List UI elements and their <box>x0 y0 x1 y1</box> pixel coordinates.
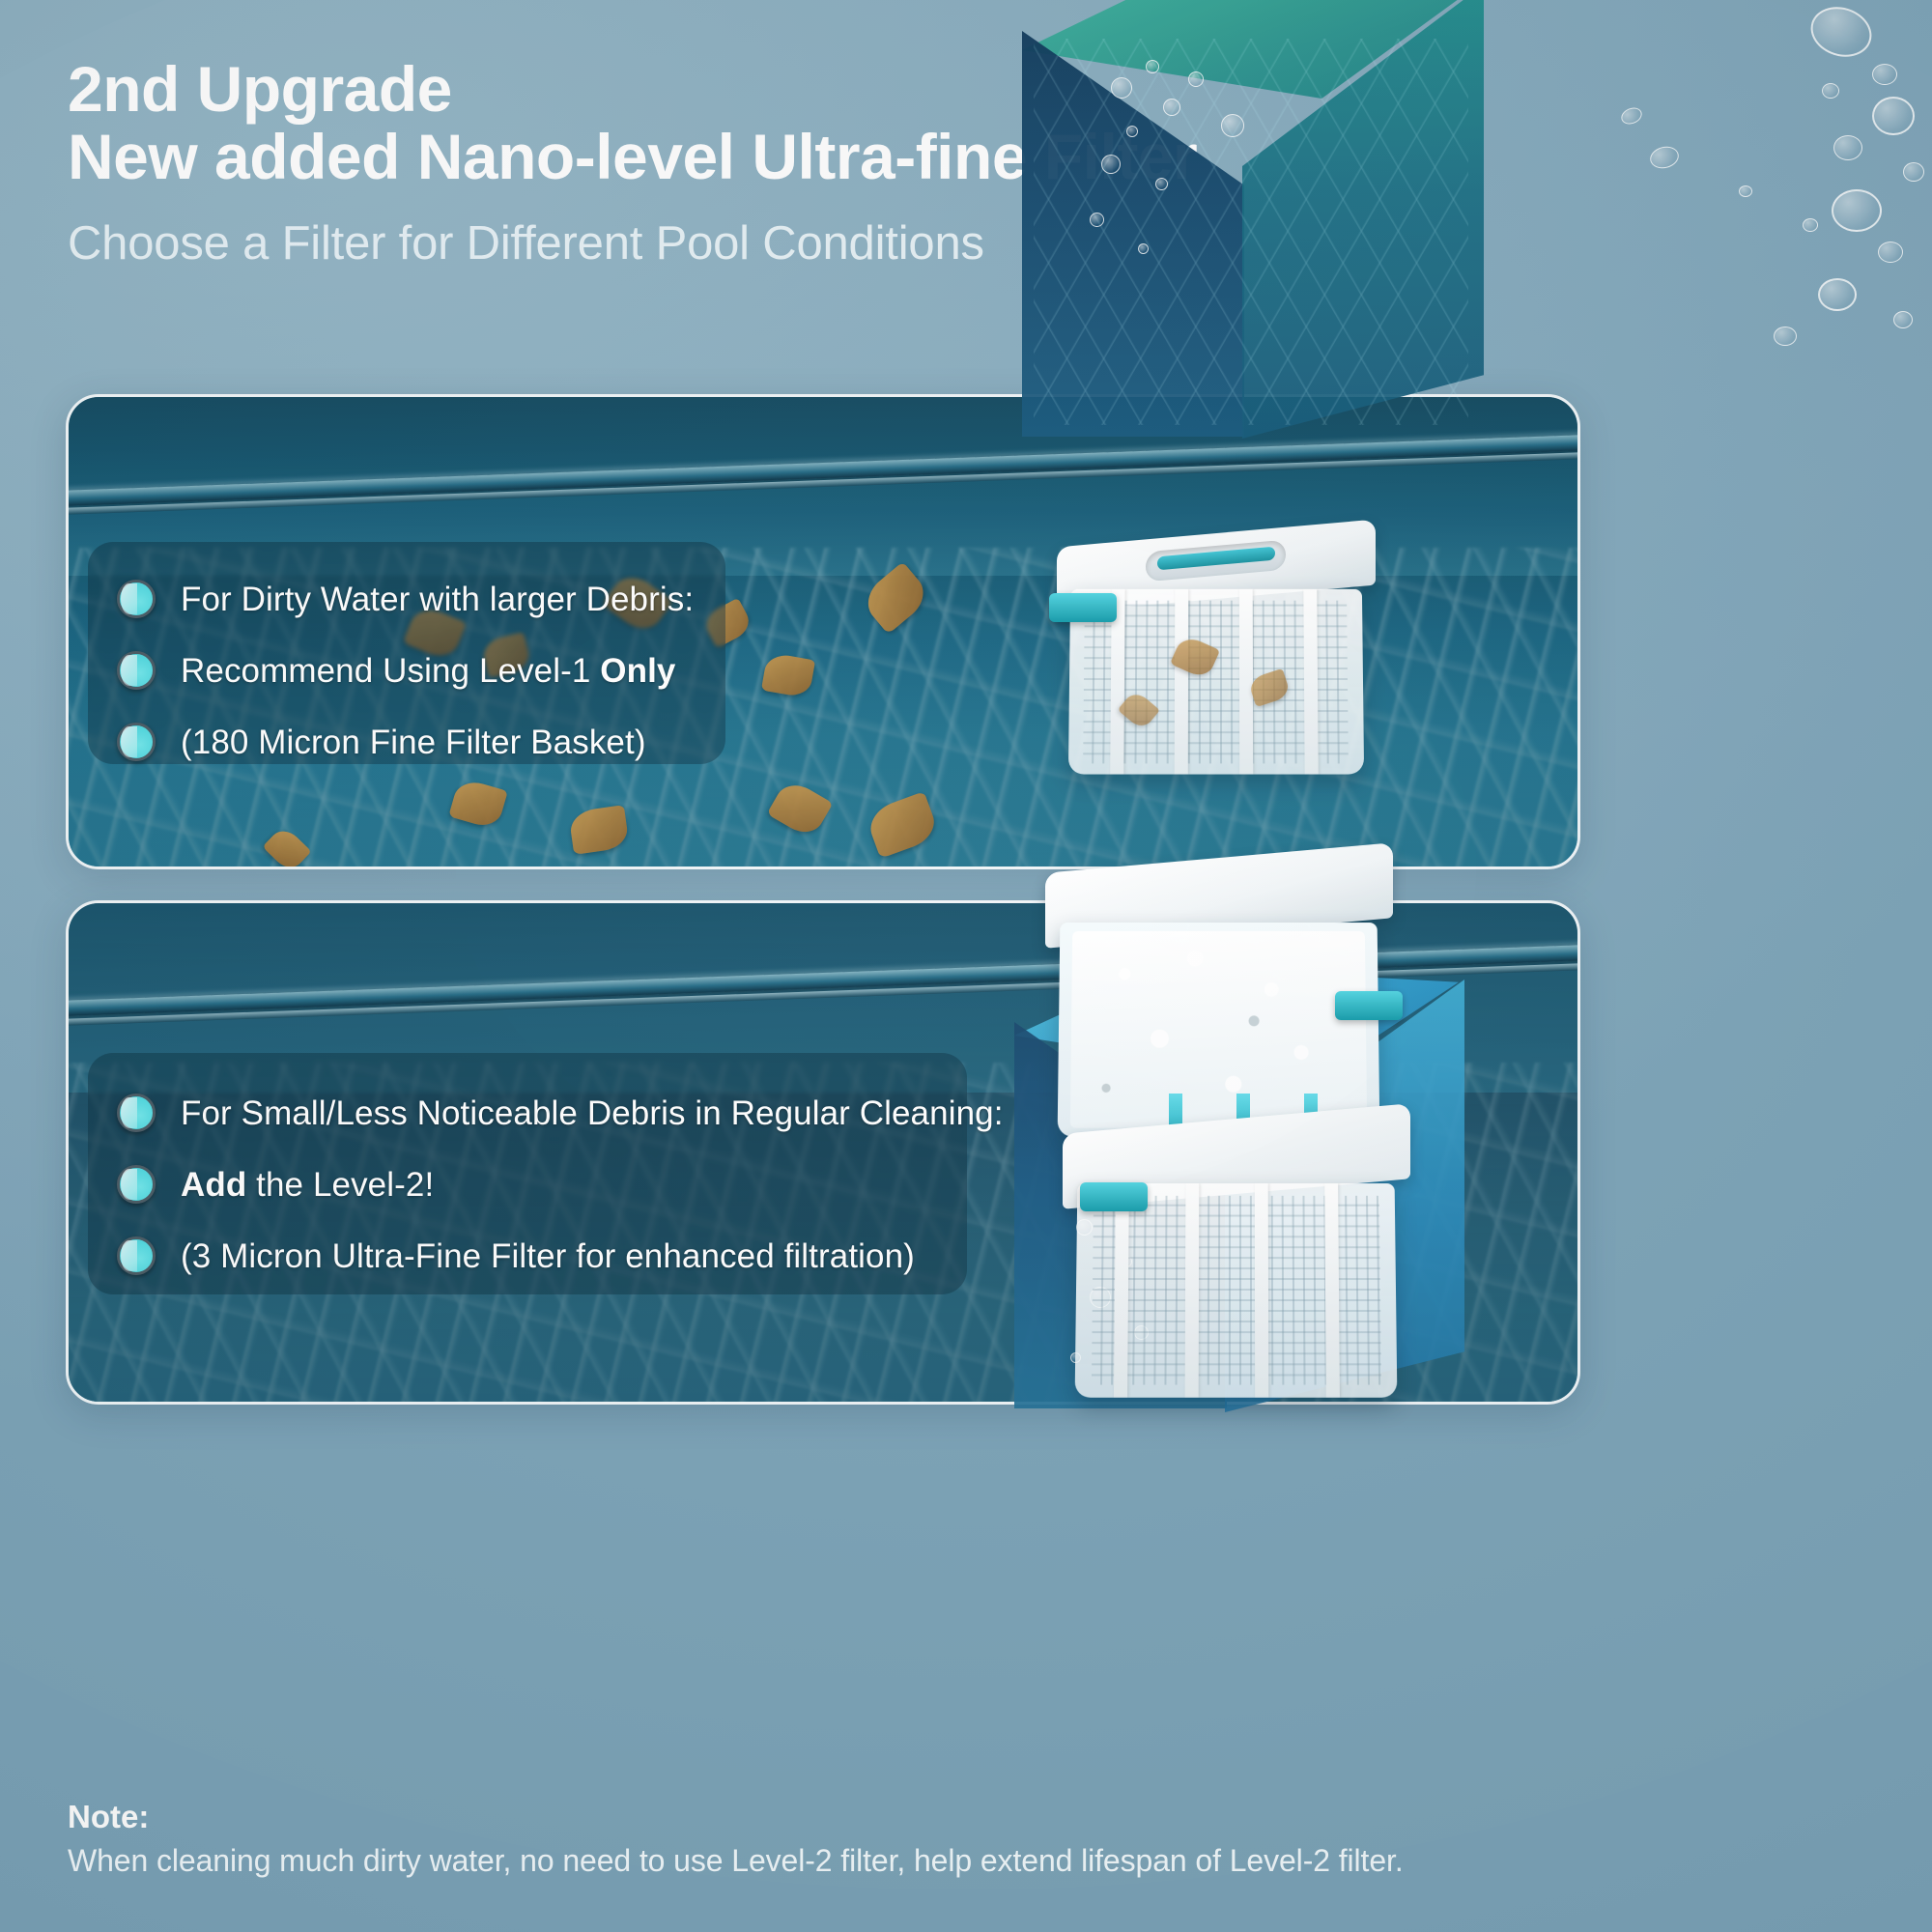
note-text: When cleaning much dirty water, no need … <box>68 1843 1710 1879</box>
poster-root: 2nd Upgrade New added Nano-level Ultra-f… <box>0 0 1932 1932</box>
page-subtitle: Choose a Filter for Different Pool Condi… <box>68 216 1497 270</box>
poster-header: 2nd Upgrade New added Nano-level Ultra-f… <box>68 56 1497 270</box>
teal-circle-bullet-icon <box>117 1094 156 1132</box>
bullet-item: Recommend Using Level-1 Only <box>117 635 694 706</box>
water-flow-arrows <box>1161 1094 1354 1180</box>
bullet-text: For Small/Less Noticeable Debris in Regu… <box>181 1096 1004 1130</box>
bullet-text: Add the Level-2! <box>181 1168 434 1202</box>
teal-circle-bullet-icon <box>117 580 156 618</box>
title-line-1: 2nd Upgrade <box>68 53 452 125</box>
card-level-1: For Dirty Water with larger Debris: Reco… <box>66 394 1580 869</box>
teal-circle-bullet-icon <box>117 723 156 761</box>
bullet-item: (3 Micron Ultra-Fine Filter for enhanced… <box>117 1220 1004 1292</box>
teal-circle-bullet-icon <box>117 1165 156 1204</box>
bullet-text: (180 Micron Fine Filter Basket) <box>181 725 646 759</box>
bullet-text: (3 Micron Ultra-Fine Filter for enhanced… <box>181 1239 915 1273</box>
bullet-item: For Small/Less Noticeable Debris in Regu… <box>117 1077 1004 1149</box>
note-block: Note: When cleaning much dirty water, no… <box>68 1799 1710 1879</box>
page-title: 2nd Upgrade New added Nano-level Ultra-f… <box>68 56 1497 191</box>
bullet-text: Recommend Using Level-1 Only <box>181 654 675 688</box>
bullet-item: (180 Micron Fine Filter Basket) <box>117 706 694 778</box>
bullet-list-level-2: For Small/Less Noticeable Debris in Regu… <box>117 1077 1004 1292</box>
bullet-item: For Dirty Water with larger Debris: <box>117 563 694 635</box>
note-label: Note: <box>68 1799 1710 1835</box>
bullet-text: For Dirty Water with larger Debris: <box>181 582 694 616</box>
bullet-item: Add the Level-2! <box>117 1149 1004 1220</box>
teal-circle-bullet-icon <box>117 1236 156 1275</box>
title-line-2: New added Nano-level Ultra-fine Filter <box>68 124 1497 191</box>
bullet-list-level-1: For Dirty Water with larger Debris: Reco… <box>117 563 694 778</box>
teal-circle-bullet-icon <box>117 651 156 690</box>
